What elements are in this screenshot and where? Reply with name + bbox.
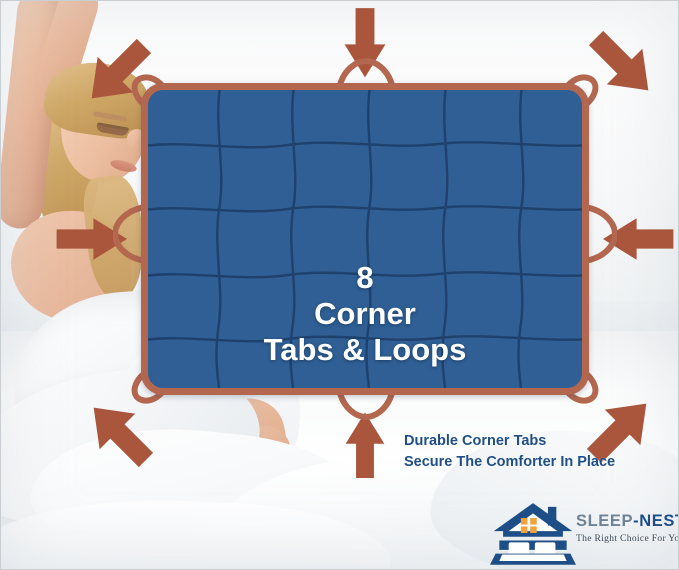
comforter-graphic: 8 Corner Tabs & Loops — [141, 83, 589, 395]
brand-name: SLEEP-NEST — [576, 513, 676, 530]
brand-logo-text: SLEEP-NEST The Right Choice For You — [576, 513, 676, 544]
brand-logo: SLEEP-NEST The Right Choice For You — [490, 499, 676, 567]
comforter-body: 8 Corner Tabs & Loops — [141, 83, 589, 395]
arrow-bottom-center — [341, 411, 389, 481]
brand-name-part1: SLEEP — [576, 512, 633, 530]
product-image-canvas: 8 Corner Tabs & Loops Durable Corner Tab… — [0, 0, 679, 570]
brand-subtitle: The Right Choice For You — [576, 533, 676, 544]
tagline-block: Durable Corner Tabs Secure The Comforter… — [404, 431, 669, 472]
brand-name-part2: -NEST — [633, 512, 679, 530]
house-with-bed-icon — [490, 499, 576, 567]
quilt-stitch-pattern — [148, 90, 589, 395]
tagline-line-2: Secure The Comforter In Place — [404, 452, 669, 473]
tagline-line-1: Durable Corner Tabs — [404, 431, 669, 452]
